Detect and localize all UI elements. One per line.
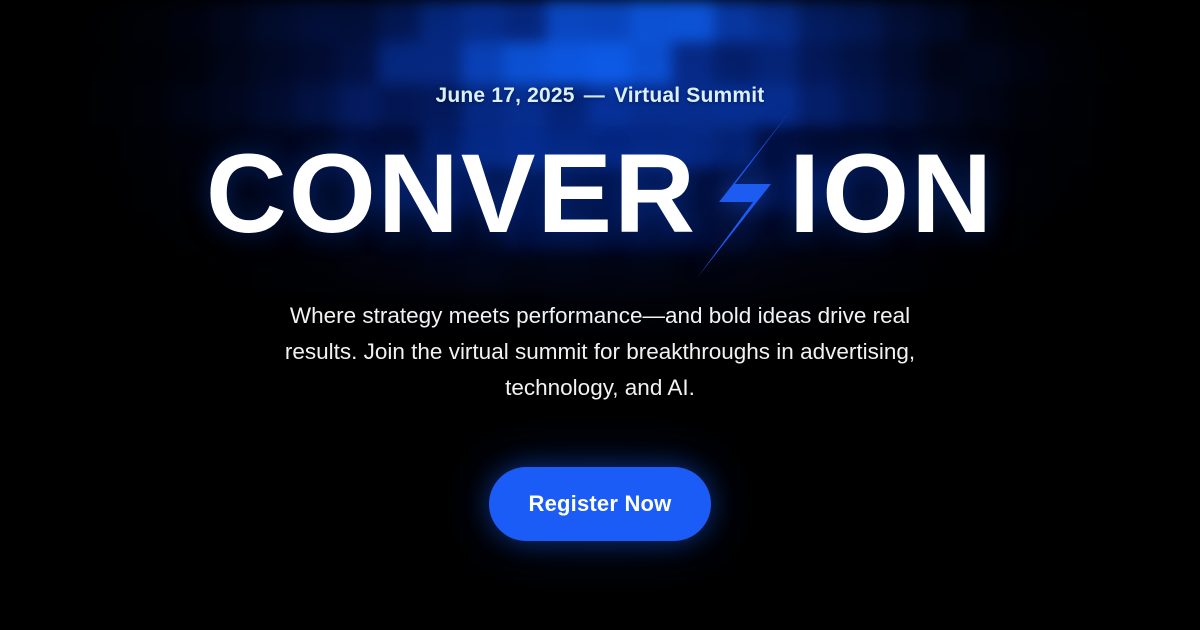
cta-container: Register Now	[489, 467, 711, 541]
register-now-button[interactable]: Register Now	[489, 467, 711, 541]
event-type: Virtual Summit	[614, 84, 765, 107]
title-part-after: ION	[789, 138, 994, 250]
lightning-bolt-icon	[697, 138, 789, 250]
hero-subtitle: Where strategy meets performance—and bol…	[270, 298, 930, 406]
hero-content: June 17, 2025—Virtual Summit CONVER ION …	[0, 0, 1200, 630]
title-part-before: CONVER	[206, 138, 697, 250]
page-title: CONVER ION	[206, 138, 994, 250]
event-date: June 17, 2025	[435, 84, 574, 107]
event-eyebrow: June 17, 2025—Virtual Summit	[435, 84, 764, 108]
hero-banner: June 17, 2025—Virtual Summit CONVER ION …	[0, 0, 1200, 630]
eyebrow-separator: —	[575, 84, 614, 108]
hero-title-wrap: CONVER ION	[206, 134, 994, 254]
